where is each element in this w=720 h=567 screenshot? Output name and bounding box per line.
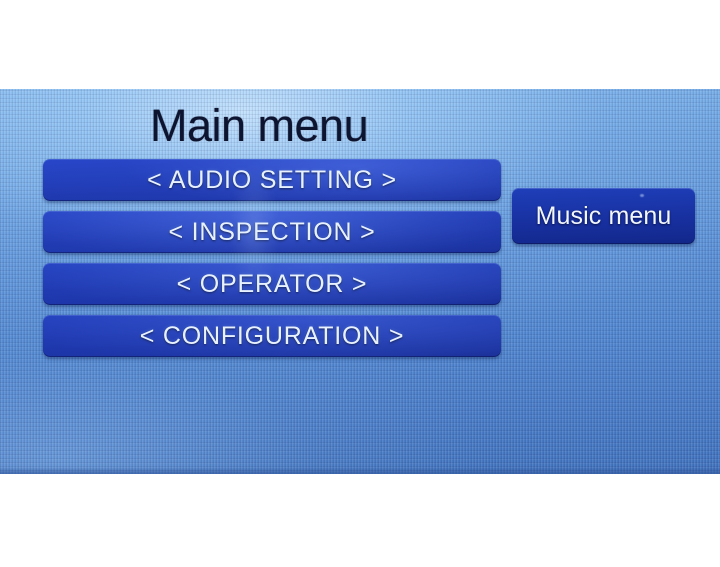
music-menu-label: Music menu [536, 203, 672, 229]
menu-button-label: < INSPECTION > [168, 219, 375, 245]
menu-button-label: < OPERATOR > [177, 271, 368, 297]
menu-button-inspection[interactable]: < INSPECTION > [43, 211, 501, 253]
menu-button-configuration[interactable]: < CONFIGURATION > [43, 315, 501, 357]
menu-button-label: < AUDIO SETTING > [147, 167, 397, 193]
menu-button-audio-setting[interactable]: < AUDIO SETTING > [43, 159, 501, 201]
device-photo-frame: Main menu Music menu < AUDIO SETTING > <… [0, 0, 720, 567]
menu-button-operator[interactable]: < OPERATOR > [43, 263, 501, 305]
menu-button-label: < CONFIGURATION > [140, 323, 405, 349]
page-title: Main menu [150, 99, 480, 154]
specular-highlight-icon [640, 194, 644, 197]
lcd-screen: Main menu Music menu < AUDIO SETTING > <… [0, 89, 720, 474]
main-menu-list: < AUDIO SETTING > < INSPECTION > < OPERA… [43, 159, 501, 357]
music-menu-button[interactable]: Music menu [512, 188, 695, 244]
